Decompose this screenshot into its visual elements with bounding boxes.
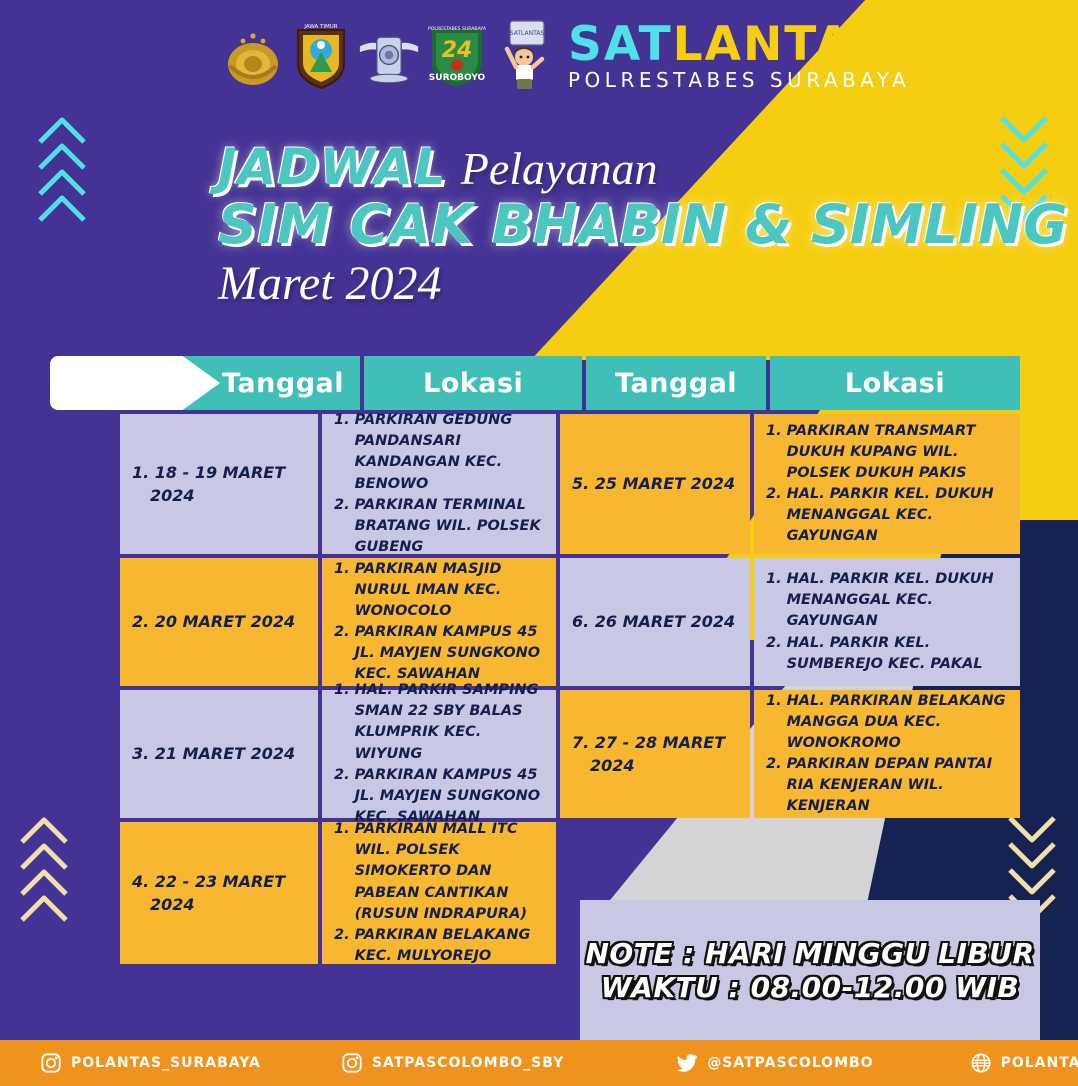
list-item: 1.HAL. PARKIRAN BELAKANG MANGGA DUA KEC.… (766, 691, 1008, 754)
list-number: 2. (334, 925, 350, 967)
instagram-icon (341, 1052, 363, 1074)
brand-subtitle: POLRESTABES SURABAYA (568, 70, 910, 90)
list-text: HAL. PARKIR KEL. SUMBEREJO KEC. PAKAL (787, 633, 1008, 675)
list-item: 2.PARKIRAN BELAKANG KEC. MULYOREJO (334, 925, 544, 967)
footer-label: POLANTASSURABAYA.ID (1001, 1055, 1078, 1071)
footer-label: @SATPASCOLOMBO (707, 1055, 873, 1071)
date-line: 4. 22 - 23 MARET (132, 870, 306, 893)
brand-main-line: SATLANTAS (568, 21, 910, 68)
globe-icon (970, 1052, 992, 1074)
list-number: 1. (766, 569, 782, 632)
table-row: 1.HAL. PARKIRAN BELAKANG MANGGA DUA KEC.… (754, 690, 1020, 818)
list-text: PARKIRAN KAMPUS 45 JL. MAYJEN SUNGKONO K… (355, 765, 544, 828)
note-box-wrapper: NOTE : HARI MINGGU LIBUR WAKTU : 08.00-1… (580, 900, 1040, 1042)
table-row: 4. 22 - 23 MARET 2024 (120, 822, 318, 964)
svg-text:SATLANTAS: SATLANTAS (510, 30, 545, 37)
table-row: 3. 21 MARET 2024 (120, 690, 318, 818)
social-footer: POLANTAS_SURABAYA SATPASCOLOMBO_SBY @SAT… (0, 1040, 1078, 1086)
list-item: 1.PARKIRAN TRANSMART DUKUH KUPANG WIL. P… (766, 421, 1008, 484)
poster-header: JAWA TIMUR LANTAS POLRESTA (0, 0, 1078, 110)
polri-emblem-logo (222, 19, 284, 91)
column-lokasi-left: 1.PARKIRAN GEDUNG PANDANSARI KANDANGAN K… (322, 414, 556, 964)
poster-root: JAWA TIMUR LANTAS POLRESTA (0, 0, 1078, 1086)
footer-instagram-polantas[interactable]: POLANTAS_SURABAYA (40, 1052, 261, 1074)
cak-bhabin-mascot-logo: SATLANTAS (494, 19, 556, 91)
svg-text:LANTAS: LANTAS (380, 31, 398, 37)
svg-text:POLRESTABES SURABAYA: POLRESTABES SURABAYA (428, 26, 486, 32)
poster-title: JADWALPelayanan SIM CAK BHABIN & SIMLING… (218, 142, 918, 308)
list-text: PARKIRAN TRANSMART DUKUH KUPANG WIL. POL… (787, 421, 1008, 484)
list-text: HAL. PARKIR KEL. DUKUH MENANGGAL KEC. GA… (787, 484, 1008, 547)
date-line: 5. 25 MARET 2024 (572, 472, 738, 495)
list-text: HAL. PARKIR KEL. DUKUH MENANGGAL KEC. GA… (787, 569, 1008, 632)
brand-sat-text: SAT (568, 17, 673, 72)
list-number: 2. (766, 754, 782, 817)
list-item: 2.HAL. PARKIR KEL. DUKUH MENANGGAL KEC. … (766, 484, 1008, 547)
list-item: 1.PARKIRAN MALL ITC WIL. POLSEK SIMOKERT… (334, 819, 544, 924)
table-row: 1.PARKIRAN GEDUNG PANDANSARI KANDANGAN K… (322, 414, 556, 554)
date-line: 2024 (572, 754, 738, 777)
date-line: 1. 18 - 19 MARET (132, 461, 306, 484)
table-body: 1. 18 - 19 MARET 2024 2. 20 MARET 2024 3… (120, 414, 1020, 964)
list-item: 2.HAL. PARKIR KEL. SUMBEREJO KEC. PAKAL (766, 633, 1008, 675)
list-number: 1. (334, 410, 350, 494)
list-text: PARKIRAN MASJID NURUL IMAN KEC. WONOCOLO (355, 559, 544, 622)
table-row: 1.HAL. PARKIR KEL. DUKUH MENANGGAL KEC. … (754, 558, 1020, 686)
date-line: 2024 (132, 893, 306, 916)
list-item: 1.PARKIRAN MASJID NURUL IMAN KEC. WONOCO… (334, 559, 544, 622)
title-line-2: SIM CAK BHABIN & SIMLING (218, 198, 918, 252)
list-number: 1. (334, 819, 350, 924)
list-text: HAL. PARKIR SAMPING SMAN 22 SBY BALAS KL… (355, 680, 544, 764)
column-tanggal-right: 5. 25 MARET 2024 6. 26 MARET 2024 7. 27 … (560, 414, 750, 964)
title-line-1: JADWALPelayanan (218, 142, 918, 192)
note-box: NOTE : HARI MINGGU LIBUR WAKTU : 08.00-1… (580, 900, 1040, 1042)
list-number: 2. (766, 484, 782, 547)
list-text: PARKIRAN DEPAN PANTAI RIA KENJERAN WIL. … (787, 754, 1008, 817)
table-row: 1.PARKIRAN MALL ITC WIL. POLSEK SIMOKERT… (322, 822, 556, 964)
column-header-lokasi-1: Lokasi (364, 356, 582, 410)
list-item: 1.PARKIRAN GEDUNG PANDANSARI KANDANGAN K… (334, 410, 544, 494)
polda-jawa-timur-logo: JAWA TIMUR (290, 19, 352, 91)
column-header-lokasi-2: Lokasi (770, 356, 1020, 410)
schedule-table: Tanggal Lokasi Tanggal Lokasi 1. 18 - 19… (50, 356, 1020, 964)
list-number: 2. (334, 622, 350, 685)
column-header-tanggal-2: Tanggal (586, 356, 766, 410)
list-number: 2. (334, 765, 350, 828)
list-text: PARKIRAN MALL ITC WIL. POLSEK SIMOKERTO … (355, 819, 544, 924)
twitter-icon (676, 1052, 698, 1074)
instagram-icon (40, 1052, 62, 1074)
date-line: 2024 (132, 484, 306, 507)
list-item: 2.PARKIRAN TERMINAL BRATANG WIL. POLSEK … (334, 495, 544, 558)
list-item: 1.HAL. PARKIR KEL. DUKUH MENANGGAL KEC. … (766, 569, 1008, 632)
list-number: 1. (766, 691, 782, 754)
list-item: 2.PARKIRAN KAMPUS 45 JL. MAYJEN SUNGKONO… (334, 765, 544, 828)
table-row: 1. 18 - 19 MARET 2024 (120, 414, 318, 554)
list-text: PARKIRAN TERMINAL BRATANG WIL. POLSEK GU… (355, 495, 544, 558)
footer-instagram-satpas[interactable]: SATPASCOLOMBO_SBY (341, 1052, 564, 1074)
date-line: 7. 27 - 28 MARET (572, 731, 738, 754)
list-number: 2. (334, 495, 350, 558)
column-lokasi-right: 1.PARKIRAN TRANSMART DUKUH KUPANG WIL. P… (754, 414, 1020, 964)
table-row: 1.PARKIRAN MASJID NURUL IMAN KEC. WONOCO… (322, 558, 556, 686)
list-number: 2. (766, 633, 782, 675)
note-line-2: WAKTU : 08.00-12.00 WIB (601, 971, 1019, 1005)
table-row: 2. 20 MARET 2024 (120, 558, 318, 686)
chevron-up-icon (34, 190, 90, 224)
footer-twitter-satpascolombo[interactable]: @SATPASCOLOMBO (676, 1052, 873, 1074)
logo-row: JAWA TIMUR LANTAS POLRESTA (222, 19, 556, 91)
list-item: 2.PARKIRAN DEPAN PANTAI RIA KENJERAN WIL… (766, 754, 1008, 817)
table-row: 5. 25 MARET 2024 (560, 414, 750, 554)
column-tanggal-left: 1. 18 - 19 MARET 2024 2. 20 MARET 2024 3… (120, 414, 318, 964)
polrestabes-suroboyo-247-logo: POLRESTABES SURABAYA 24 SUROBOYO (426, 19, 488, 91)
brand-lantas-text: LANTAS (673, 17, 889, 72)
date-line: 2. 20 MARET 2024 (132, 610, 306, 633)
list-number: 1. (766, 421, 782, 484)
list-text: PARKIRAN KAMPUS 45 JL. MAYJEN SUNGKONO K… (355, 622, 544, 685)
chevron-decoration-top-left (34, 112, 90, 216)
list-number: 1. (334, 680, 350, 764)
svg-text:JAWA TIMUR: JAWA TIMUR (303, 24, 337, 30)
brand-wordmark: SATLANTAS POLRESTABES SURABAYA (568, 21, 910, 90)
list-text: HAL. PARKIRAN BELAKANG MANGGA DUA KEC. W… (787, 691, 1008, 754)
note-line-1: NOTE : HARI MINGGU LIBUR (585, 937, 1034, 971)
title-pelayanan: Pelayanan (461, 143, 658, 194)
table-row: 6. 26 MARET 2024 (560, 558, 750, 686)
svg-text:SUROBOYO: SUROBOYO (429, 73, 486, 83)
date-line: 3. 21 MARET 2024 (132, 742, 306, 765)
date-line: 6. 26 MARET 2024 (572, 610, 738, 633)
title-jadwal: JADWAL (218, 138, 447, 196)
list-number: 1. (334, 559, 350, 622)
footer-label: POLANTAS_SURABAYA (71, 1055, 261, 1071)
korlantas-wing-logo: LANTAS (358, 19, 420, 91)
table-row: 1.PARKIRAN TRANSMART DUKUH KUPANG WIL. P… (754, 414, 1020, 554)
footer-website-polantassurabaya[interactable]: POLANTASSURABAYA.ID (970, 1052, 1078, 1074)
table-row: 7. 27 - 28 MARET 2024 (560, 690, 750, 818)
list-text: PARKIRAN BELAKANG KEC. MULYOREJO (355, 925, 544, 967)
table-row: 1.HAL. PARKIR SAMPING SMAN 22 SBY BALAS … (322, 690, 556, 818)
title-line-3: Maret 2024 (218, 260, 918, 308)
list-text: PARKIRAN GEDUNG PANDANSARI KANDANGAN KEC… (355, 410, 544, 494)
footer-label: SATPASCOLOMBO_SBY (372, 1055, 564, 1071)
list-item: 1.HAL. PARKIR SAMPING SMAN 22 SBY BALAS … (334, 680, 544, 764)
list-item: 2.PARKIRAN KAMPUS 45 JL. MAYJEN SUNGKONO… (334, 622, 544, 685)
table-header-row: Tanggal Lokasi Tanggal Lokasi (168, 356, 1020, 410)
